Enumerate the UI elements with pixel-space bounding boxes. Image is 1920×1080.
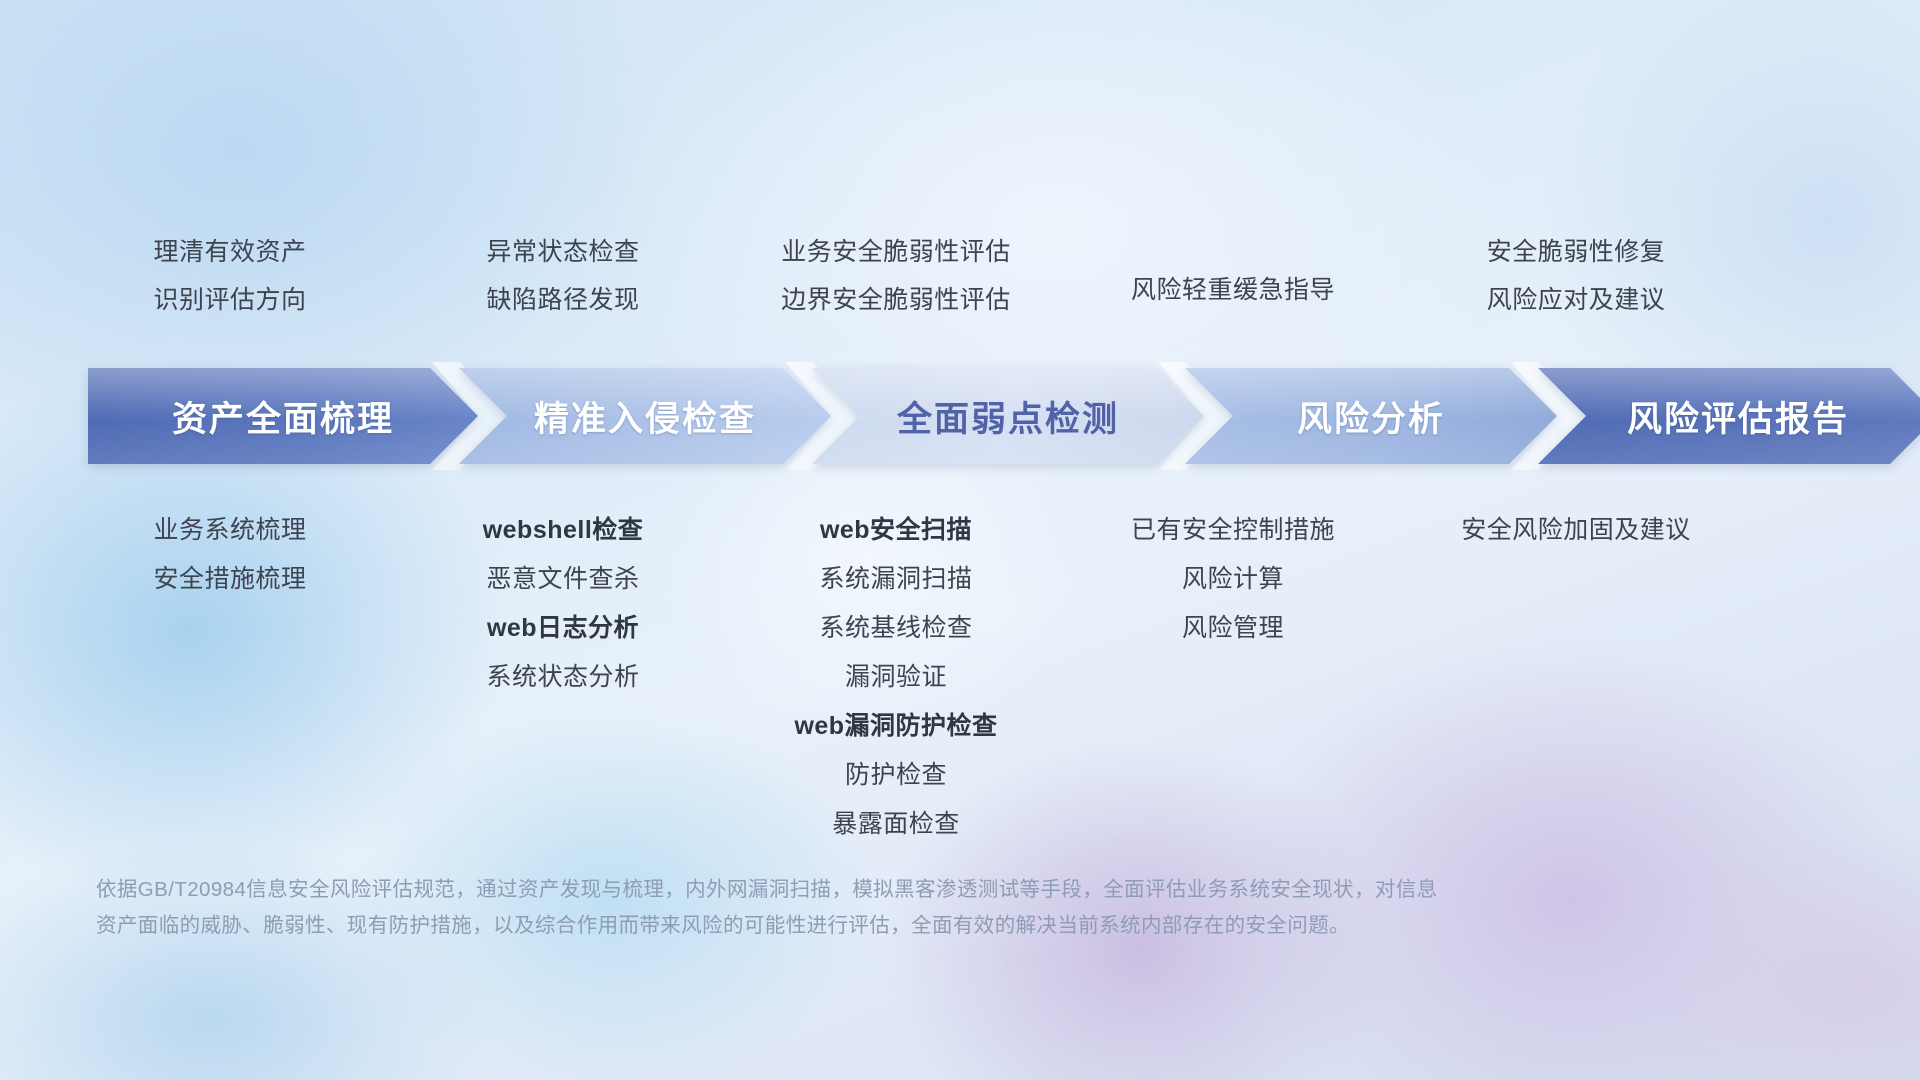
- top-item: 边界安全脆弱性评估: [781, 276, 1011, 324]
- bottom-item: 暴露面检查: [832, 800, 960, 849]
- stage-1-chevron[interactable]: 资产全面梳理: [88, 368, 478, 464]
- process-arrow-band: 资产全面梳理 精准入侵检查 全面弱点检测 风险分析 风险评估报告: [88, 368, 1848, 464]
- stage-3-chevron[interactable]: 全面弱点检测: [812, 368, 1204, 464]
- stage-5-bottom-items: 安全风险加固及建议: [1411, 506, 1741, 555]
- stage-4-bottom-items: 已有安全控制措施 风险计算 风险管理: [1083, 506, 1383, 653]
- stage-1-label: 资产全面梳理: [88, 391, 478, 442]
- stage-1-top-items: 理清有效资产 识别评估方向: [65, 228, 395, 318]
- stage-4-top-items: 风险轻重缓急指导: [1083, 228, 1383, 318]
- bottom-item: 系统漏洞扫描: [819, 555, 972, 604]
- stage-3-top-items: 业务安全脆弱性评估 边界安全脆弱性评估: [731, 228, 1061, 318]
- bottom-item: 防护检查: [845, 751, 947, 800]
- bottom-item: web日志分析: [487, 604, 639, 653]
- bottom-item: 已有安全控制措施: [1131, 506, 1335, 555]
- stage-2-chevron[interactable]: 精准入侵检查: [459, 368, 831, 464]
- bottom-item: 风险计算: [1182, 555, 1284, 604]
- stage-2-top-items: 异常状态检查 缺陷路径发现: [413, 228, 713, 318]
- stage-2-label: 精准入侵检查: [459, 391, 831, 442]
- bottom-item: 风险管理: [1182, 604, 1284, 653]
- top-item: 理清有效资产: [153, 228, 306, 276]
- stage-3-label: 全面弱点检测: [812, 391, 1204, 442]
- stage-2-bottom-items: webshell检查 恶意文件查杀 web日志分析 系统状态分析: [413, 506, 713, 702]
- stage-1-bottom-items: 业务系统梳理 安全措施梳理: [65, 506, 395, 604]
- footer-line-2: 资产面临的威胁、脆弱性、现有防护措施，以及综合作用而带来风险的可能性进行评估，全…: [96, 908, 1676, 944]
- bottom-item: webshell检查: [483, 506, 644, 555]
- top-item: 安全脆弱性修复: [1487, 228, 1666, 276]
- bottom-item: 安全措施梳理: [153, 555, 306, 604]
- stage-5-chevron[interactable]: 风险评估报告: [1538, 368, 1920, 464]
- bottom-item: 漏洞验证: [845, 653, 947, 702]
- footer-line-1: 依据GB/T20984信息安全风险评估规范，通过资产发现与梳理，内外网漏洞扫描，…: [96, 872, 1676, 908]
- top-item: 风险轻重缓急指导: [1131, 266, 1335, 314]
- bottom-items-row: 业务系统梳理 安全措施梳理 webshell检查 恶意文件查杀 web日志分析 …: [0, 506, 1920, 849]
- bottom-item: 业务系统梳理: [153, 506, 306, 555]
- stage-3-bottom-items: web安全扫描 系统漏洞扫描 系统基线检查 漏洞验证 web漏洞防护检查 防护检…: [731, 506, 1061, 849]
- stage-5-label: 风险评估报告: [1538, 391, 1920, 442]
- top-item: 识别评估方向: [153, 276, 306, 324]
- top-item: 风险应对及建议: [1487, 276, 1666, 324]
- stage-4-chevron[interactable]: 风险分析: [1185, 368, 1557, 464]
- footer-description: 依据GB/T20984信息安全风险评估规范，通过资产发现与梳理，内外网漏洞扫描，…: [96, 872, 1676, 944]
- bottom-item: 安全风险加固及建议: [1461, 506, 1691, 555]
- bottom-item: 系统基线检查: [819, 604, 972, 653]
- bottom-item: web安全扫描: [820, 506, 972, 555]
- top-item: 业务安全脆弱性评估: [781, 228, 1011, 276]
- top-item: 异常状态检查: [486, 228, 639, 276]
- stage-5-top-items: 安全脆弱性修复 风险应对及建议: [1411, 228, 1741, 318]
- top-item: 缺陷路径发现: [486, 276, 639, 324]
- bottom-item: 恶意文件查杀: [486, 555, 639, 604]
- bottom-item: web漏洞防护检查: [794, 702, 997, 751]
- bottom-item: 系统状态分析: [486, 653, 639, 702]
- stage-4-label: 风险分析: [1185, 391, 1557, 442]
- top-captions-row: 理清有效资产 识别评估方向 异常状态检查 缺陷路径发现 业务安全脆弱性评估 边界…: [0, 228, 1920, 318]
